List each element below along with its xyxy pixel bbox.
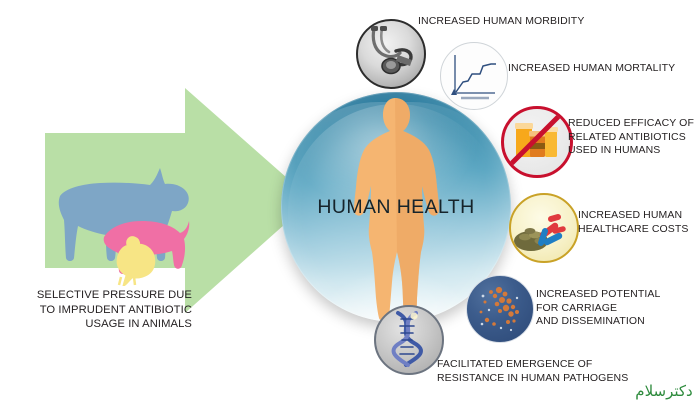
petri-dish-icon	[466, 275, 534, 343]
outcome-label-carriage: INCREASED POTENTIAL FOR CARRIAGE AND DIS…	[536, 288, 700, 329]
source-label: SELECTIVE PRESSURE DUE TO IMPRUDENT ANTI…	[6, 288, 192, 332]
watermark-logo: دکترسلام	[636, 378, 692, 402]
coins-and-capsules-icon	[509, 193, 579, 263]
outcome-label-morbidity: INCREASED HUMAN MORBIDITY	[418, 15, 668, 29]
line-chart-icon	[440, 42, 508, 110]
outcome-label-mortality: INCREASED HUMAN MORTALITY	[508, 62, 700, 76]
chicken-silhouette-icon	[108, 236, 164, 286]
stethoscope-icon	[356, 19, 426, 89]
infographic-canvas: SELECTIVE PRESSURE DUE TO IMPRUDENT ANTI…	[0, 0, 700, 415]
no-pills-icon	[501, 106, 573, 178]
watermark-text: دکترسلام	[636, 382, 692, 400]
dna-helix-icon	[374, 305, 444, 375]
outcome-label-costs: INCREASED HUMAN HEALTHCARE COSTS	[578, 209, 700, 236]
outcome-label-efficacy: REDUCED EFFICACY OF RELATED ANTIBIOTICS …	[568, 117, 700, 158]
